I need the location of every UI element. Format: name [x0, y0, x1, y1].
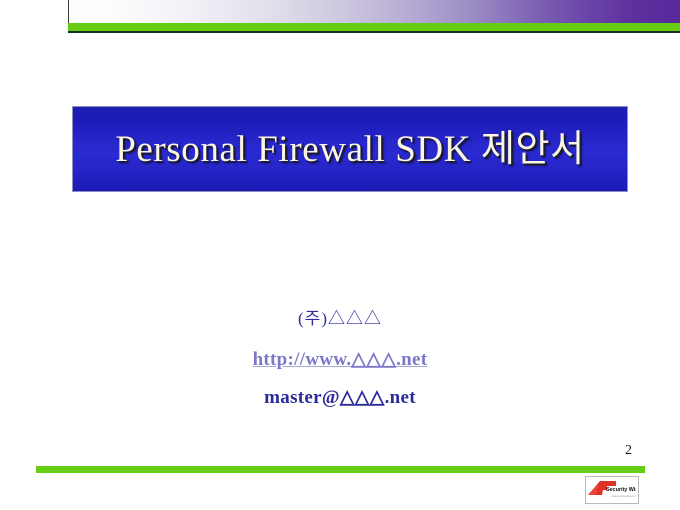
bottom-green-accent-bar — [36, 466, 645, 473]
presentation-slide: Personal Firewall SDK 제안서 (주)△△△ http://… — [0, 0, 680, 510]
title-banner: Personal Firewall SDK 제안서 — [73, 107, 627, 191]
top-gradient-band — [68, 0, 680, 23]
page-number: 2 — [625, 443, 632, 459]
logo-wordmark: Security Wizard — [606, 487, 636, 493]
top-green-accent-bar — [68, 23, 680, 31]
contact-info-block: (주)△△△ http://www.△△△.net master@△△△.net — [0, 310, 680, 407]
website-link[interactable]: http://www.△△△.net — [0, 350, 680, 369]
email-address[interactable]: master@△△△.net — [0, 388, 680, 407]
slide-title: Personal Firewall SDK 제안서 — [73, 107, 627, 191]
logo-wizard-icon: Security Wizard www.securitywizard.net — [586, 477, 636, 501]
top-band-left-edge — [68, 0, 69, 23]
company-name: (주)△△△ — [0, 310, 680, 327]
top-dark-rule — [68, 31, 680, 33]
logo-tagline: www.securitywizard.net — [611, 494, 636, 498]
security-wizard-logo: Security Wizard www.securitywizard.net — [585, 476, 639, 504]
